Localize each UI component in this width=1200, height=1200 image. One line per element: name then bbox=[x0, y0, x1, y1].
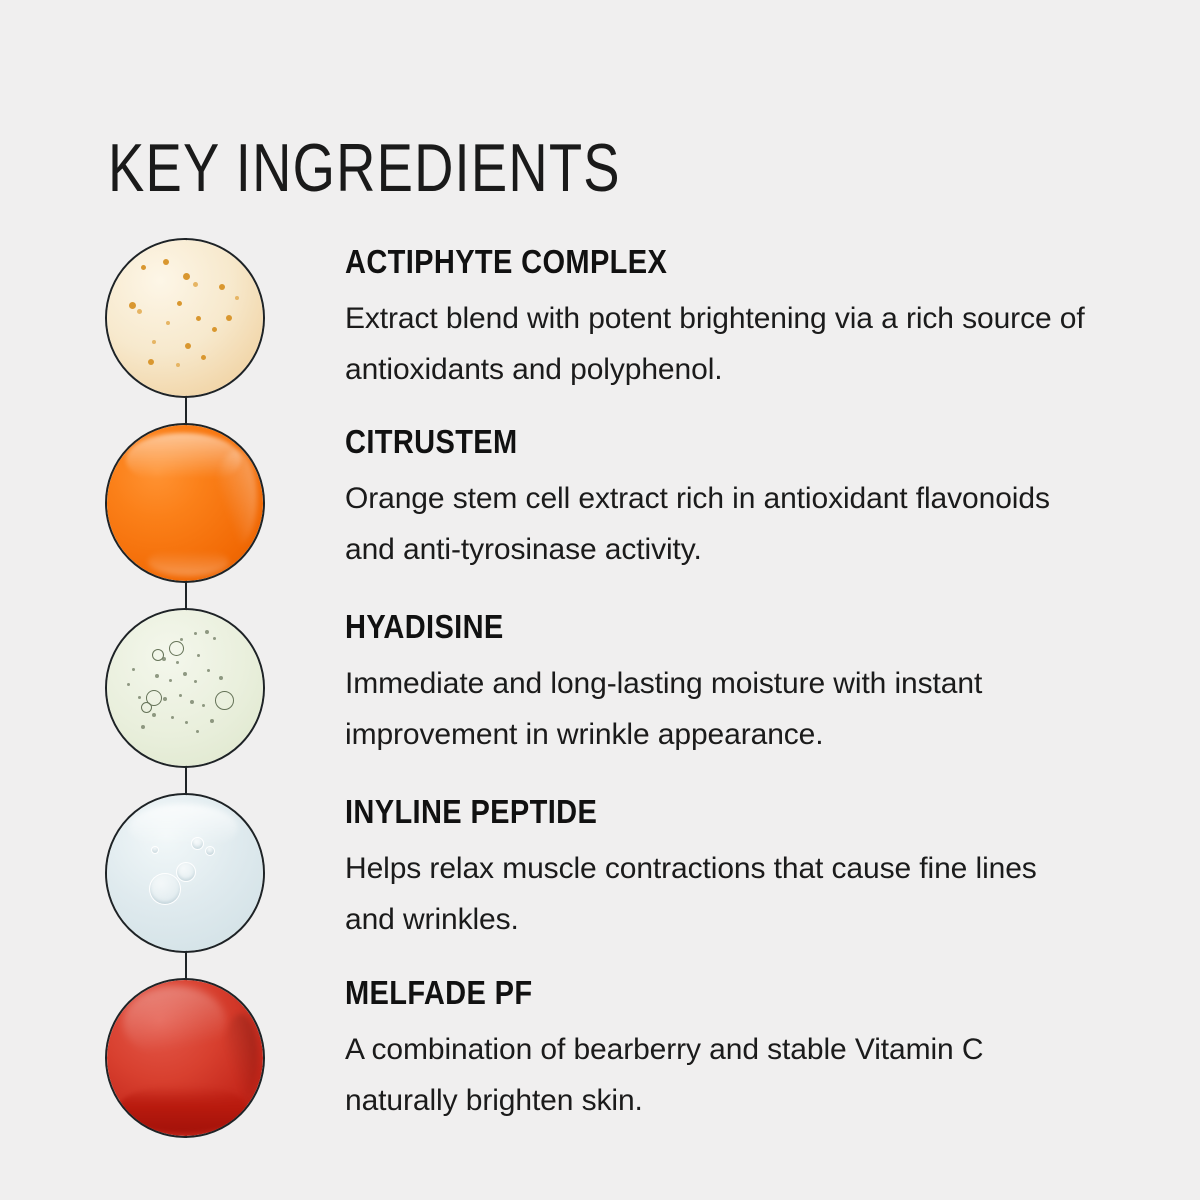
page-title: KEY INGREDIENTS bbox=[108, 132, 621, 204]
ingredient-description: Extract blend with potent brightening vi… bbox=[345, 293, 1087, 395]
ingredient-description: A combination of bearberry and stable Vi… bbox=[345, 1024, 1087, 1126]
ingredient-item: INYLINE PEPTIDE Helps relax muscle contr… bbox=[345, 794, 1087, 945]
key-ingredients-page: KEY INGREDIENTS bbox=[0, 0, 1200, 1200]
dot bbox=[185, 721, 188, 724]
pale-green-gel-swatch bbox=[105, 608, 265, 768]
ingredient-name: CITRUSTEM bbox=[345, 424, 998, 460]
ingredient-name: ACTIPHYTE COMPLEX bbox=[345, 244, 998, 280]
bubble bbox=[215, 691, 234, 710]
speck bbox=[177, 301, 182, 306]
dot bbox=[202, 704, 205, 707]
ingredient-name: MELFADE PF bbox=[345, 975, 998, 1011]
ingredient-item: MELFADE PF A combination of bearberry an… bbox=[345, 975, 1087, 1126]
speck bbox=[163, 259, 169, 265]
speck bbox=[212, 327, 217, 332]
dot bbox=[138, 696, 141, 699]
cream-speckled-swatch bbox=[105, 238, 265, 398]
ingredient-name: HYADISINE bbox=[345, 609, 998, 645]
dot bbox=[213, 637, 216, 640]
bubble bbox=[176, 862, 196, 882]
pale-blue-gel-swatch bbox=[105, 793, 265, 953]
speck bbox=[226, 315, 232, 321]
ingredient-item: ACTIPHYTE COMPLEX Extract blend with pot… bbox=[345, 244, 1087, 395]
ingredient-swatch-rail bbox=[105, 238, 267, 1138]
speck bbox=[219, 284, 225, 290]
dot bbox=[132, 668, 135, 671]
speck bbox=[176, 363, 180, 367]
swatch-fill bbox=[107, 240, 263, 396]
dot bbox=[196, 730, 199, 733]
orange-gel-swatch bbox=[105, 423, 265, 583]
dot bbox=[219, 676, 223, 680]
ingredient-name: INYLINE PEPTIDE bbox=[345, 794, 998, 830]
speck bbox=[185, 343, 191, 349]
swatch-fill bbox=[107, 425, 263, 581]
speck bbox=[193, 282, 198, 287]
ingredient-description: Orange stem cell extract rich in antioxi… bbox=[345, 473, 1087, 575]
ingredient-description: Helps relax muscle contractions that cau… bbox=[345, 843, 1087, 945]
ingredient-item: HYADISINE Immediate and long-lasting moi… bbox=[345, 609, 1087, 760]
swatch-pool bbox=[119, 1086, 247, 1133]
swatch-fill bbox=[107, 610, 263, 766]
speck bbox=[137, 309, 142, 314]
ingredient-description: Immediate and long-lasting moisture with… bbox=[345, 658, 1087, 760]
red-gel-swatch bbox=[105, 978, 265, 1138]
speck bbox=[148, 359, 154, 365]
dot bbox=[162, 657, 166, 661]
ingredient-item: CITRUSTEM Orange stem cell extract rich … bbox=[345, 424, 1087, 575]
bubble bbox=[149, 873, 181, 905]
